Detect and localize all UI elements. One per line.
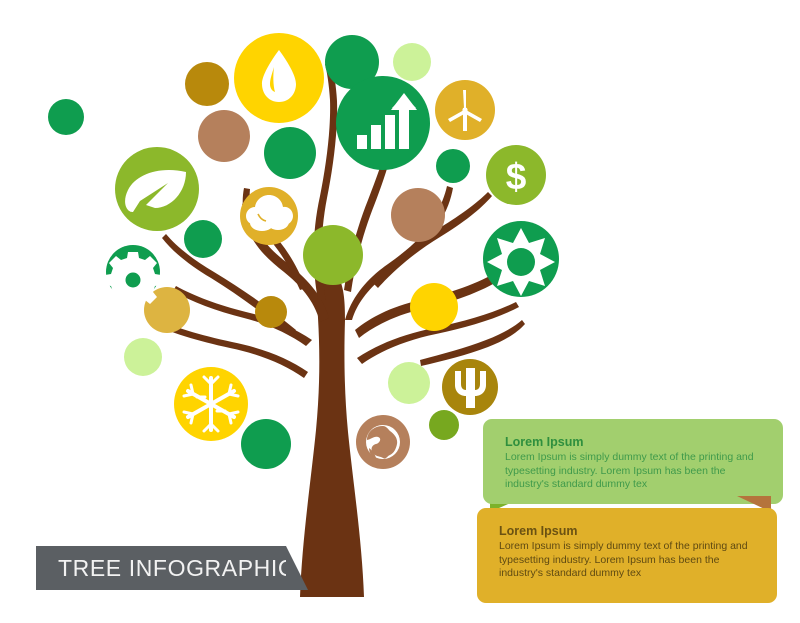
decorative-circle (184, 220, 222, 258)
icon-node-wind-turbine[interactable] (435, 80, 495, 140)
decorative-circle (393, 43, 431, 81)
turbine-hub (462, 107, 467, 112)
decorative-circle (436, 149, 470, 183)
callout-amber-heading: Lorem Ipsum (499, 524, 755, 538)
icon-node-dollar-sign[interactable]: $ (486, 145, 546, 205)
decorative-circle (410, 283, 458, 331)
decorative-circle (48, 99, 84, 135)
decorative-circle (391, 188, 445, 242)
callout-green[interactable]: Lorem Ipsum Lorem Ipsum is simply dummy … (483, 419, 783, 504)
chart-bar-2 (371, 125, 381, 149)
decorative-circle (303, 225, 363, 285)
callout-amber-body: Lorem Ipsum is simply dummy text of the … (499, 540, 755, 581)
decorative-circle (198, 110, 250, 162)
icon-node-water-drop[interactable] (234, 33, 324, 123)
icon-node-sun[interactable] (483, 221, 559, 297)
dollar-sign-icon: $ (506, 156, 527, 197)
decorative-circle (255, 296, 287, 328)
growth-chart-circle[interactable] (336, 76, 430, 170)
chart-arrow-stem (400, 110, 409, 149)
decorative-circle (429, 410, 459, 440)
decorative-circle (124, 338, 162, 376)
icon-node-leaf[interactable] (115, 147, 199, 231)
cloud-puff-right (267, 214, 289, 230)
page-title: TREE INFOGRAPHIC (58, 555, 295, 582)
callout-green-heading: Lorem Ipsum (505, 435, 761, 449)
decorative-circle (185, 62, 229, 106)
banner-slant-edge (286, 546, 308, 590)
icon-node-globe[interactable] (356, 415, 410, 469)
decorative-circle (388, 362, 430, 404)
decorative-circle (241, 419, 291, 469)
sun-inner-circle (507, 248, 535, 276)
title-banner: TREE INFOGRAPHIC (36, 546, 286, 590)
chart-bar-1 (357, 135, 367, 149)
icon-node-cloud[interactable] (240, 187, 298, 245)
gear-inner-hole (126, 273, 141, 288)
cactus-trunk (466, 368, 475, 408)
icon-node-cactus[interactable] (442, 359, 498, 415)
callout-amber[interactable]: Lorem Ipsum Lorem Ipsum is simply dummy … (477, 508, 777, 603)
callout-green-body: Lorem Ipsum is simply dummy text of the … (505, 451, 761, 492)
icon-node-growth-chart[interactable] (336, 76, 430, 170)
decorative-circle (264, 127, 316, 179)
icon-node-snowflake[interactable] (174, 367, 248, 441)
infographic-canvas: $ (0, 0, 800, 623)
icon-node-gear[interactable] (105, 245, 161, 308)
chart-bar-3 (385, 115, 395, 149)
tree-trunk (300, 280, 364, 597)
